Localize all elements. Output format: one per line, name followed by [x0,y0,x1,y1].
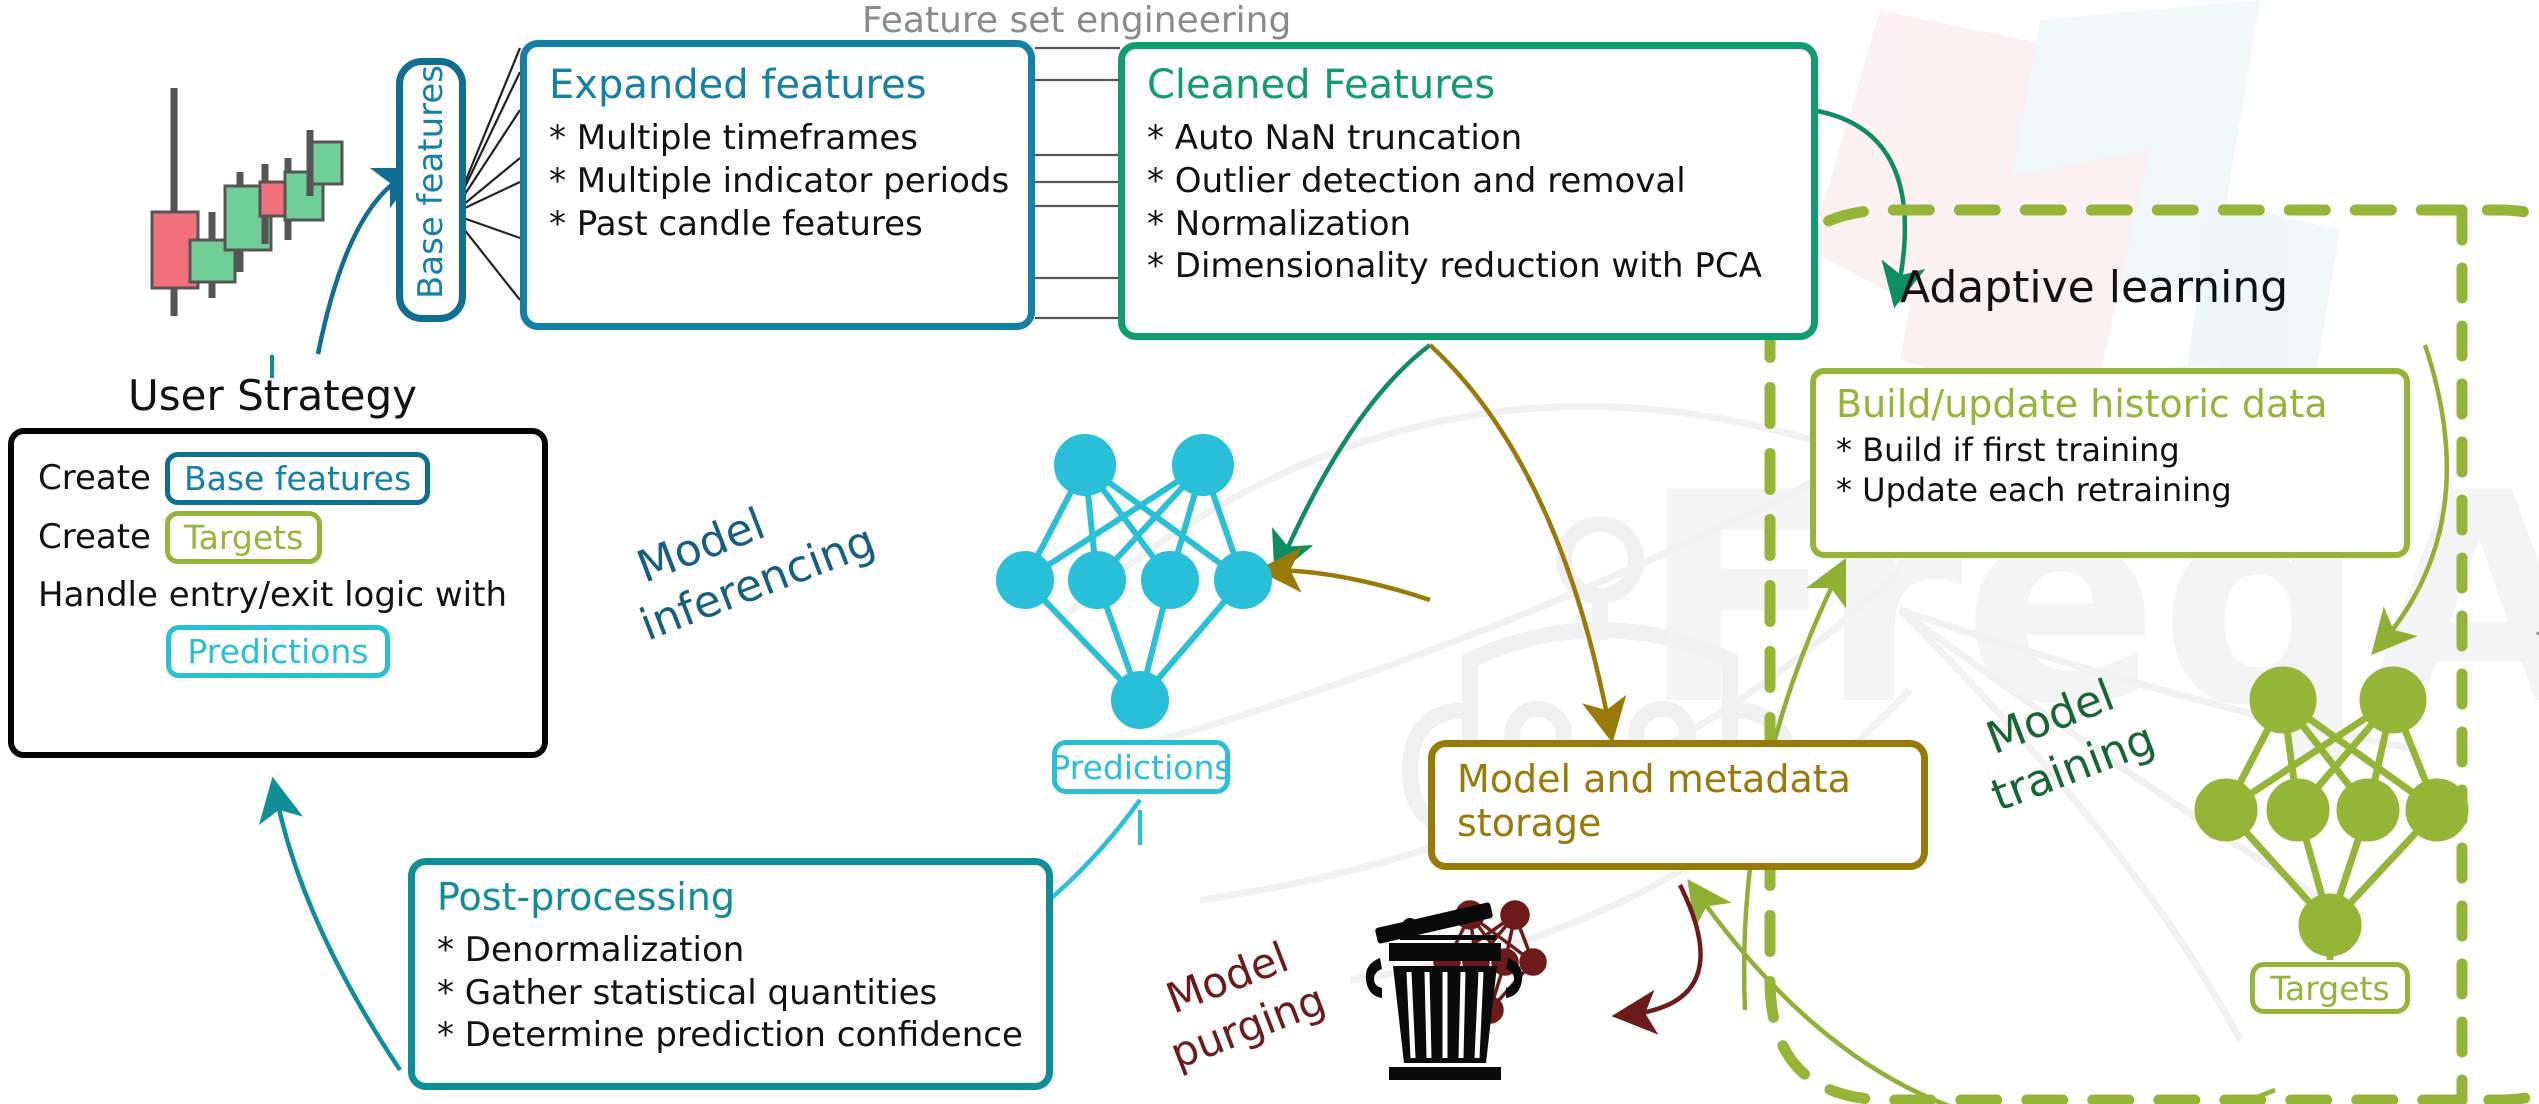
candle-body [285,172,323,220]
cleaned-features-bullet: * Dimensionality reduction with PCA [1147,245,1789,288]
post-processing-title: Post-processing [437,877,1024,919]
arrow-cleaned-to-inference [1280,345,1430,565]
expanded-features-box: Expanded features * Multiple timeframes … [520,40,1035,330]
targets-pill[interactable]: Targets [2250,962,2410,1014]
expanded-features-bullet: * Multiple timeframes [549,117,1006,160]
post-processing-bullet: * Determine prediction confidence [437,1014,1024,1057]
arrow-cleaned-to-adaptive [1812,110,1905,295]
neural-network-inference [999,437,1269,726]
storage-line1: Model and metadata [1457,757,1899,801]
arrow-storage-to-inference [1270,570,1430,600]
cleaned-features-bullet: * Auto NaN truncation [1147,117,1789,160]
storage-line2: storage [1457,801,1899,845]
rungs-expanded-to-cleaned [1035,48,1120,318]
candle-body [225,186,271,250]
candle-body [312,142,342,184]
candle-body [190,240,235,282]
base-features-pill-label: Base features [411,57,451,307]
base-features-chip[interactable]: Base features [165,452,430,505]
cleaned-features-bullet: * Normalization [1147,203,1789,246]
targets-chip[interactable]: Targets [165,511,322,564]
candle-body [260,182,292,216]
page-title: User Strategy [128,371,417,420]
diagram-canvas: FreqAI [0,0,2539,1104]
arrow-targets-to-storage [1695,890,2275,1104]
user-strategy-box: Create Base features Create Targets Hand… [8,428,548,758]
model-metadata-storage-box: Model and metadata storage [1428,740,1928,870]
create-base-features-prefix: Create [38,457,151,500]
model-training-label: Model training [1979,622,2261,818]
handle-entry-exit-text: Handle entry/exit logic with [38,574,518,617]
predictions-pill[interactable]: Predictions [1052,740,1230,794]
build-update-bullet: * Build if first training [1836,430,2384,470]
model-purging-label: Model purging [1159,890,1421,1074]
build-update-historic-data-box: Build/update historic data * Build if fi… [1810,368,2410,558]
separate-thread-label: Separate thread [2535,559,2539,879]
predictions-chip[interactable]: Predictions [166,625,389,678]
create-targets-prefix: Create [38,516,151,559]
adaptive-learning-label: Adaptive learning [1900,262,2288,313]
candle-body [152,212,198,288]
arrow-postprocessing-to-strategy [275,790,400,1070]
expanded-features-bullet: * Multiple indicator periods [549,160,1006,203]
build-update-title: Build/update historic data [1836,382,2384,426]
cleaned-features-box: Cleaned Features * Auto NaN truncation *… [1118,42,1818,340]
arrow-training-to-storage [1430,345,1610,730]
neural-network-purged [1435,902,1545,1022]
base-features-pill[interactable]: Base features [396,58,466,322]
expanded-features-title: Expanded features [549,63,1006,107]
post-processing-box: Post-processing * Denormalization * Gath… [408,858,1053,1090]
cleaned-features-bullet: * Outlier detection and removal [1147,160,1789,203]
arrow-storage-to-purge [1625,885,1701,1015]
expanded-features-bullet: * Past candle features [549,203,1006,246]
post-processing-bullet: * Denormalization [437,929,1024,972]
cleaned-features-title: Cleaned Features [1147,63,1789,107]
model-inferencing-label: Model inferencing [630,443,931,646]
feature-set-engineering-label: Feature set engineering [862,0,1291,41]
build-update-bullet: * Update each retraining [1836,470,2384,510]
post-processing-bullet: * Gather statistical quantities [437,972,1024,1015]
arrow-candles-to-base-features [318,174,408,354]
